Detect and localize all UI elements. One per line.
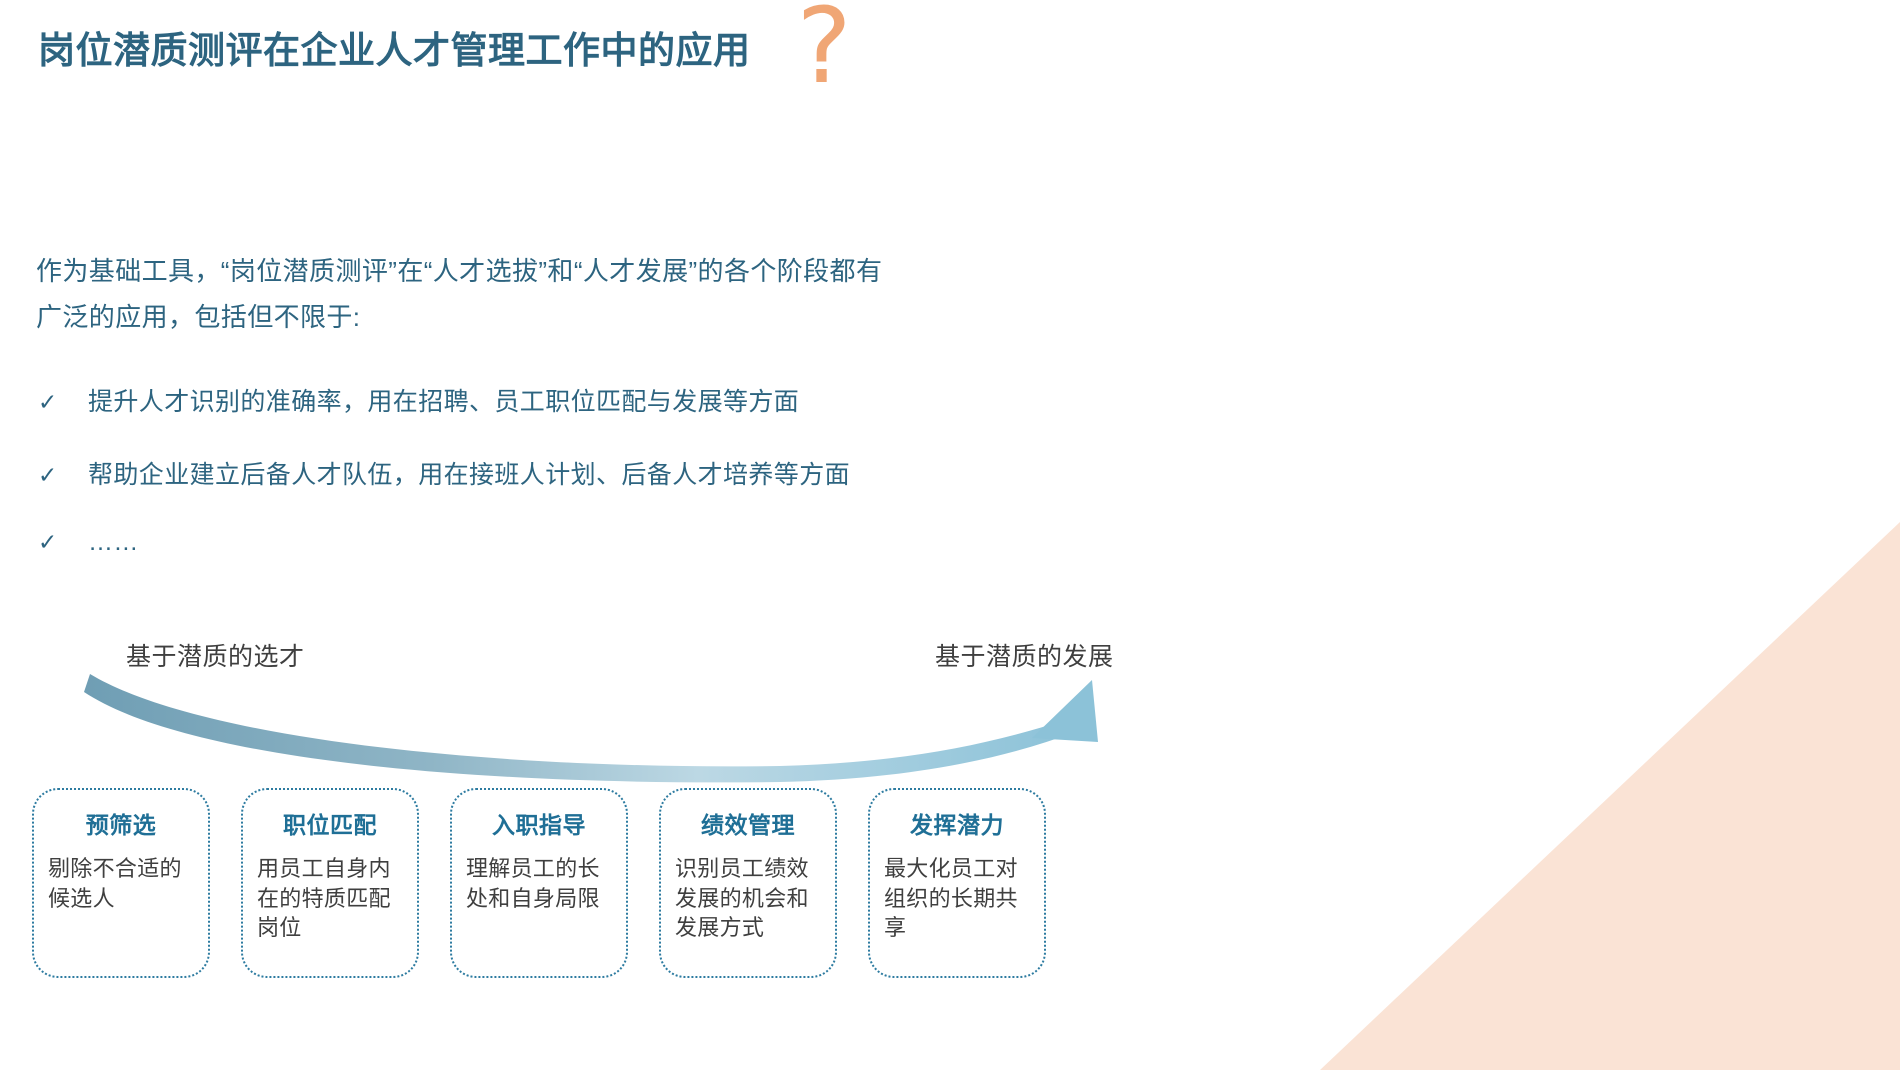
check-icon: ✓ [38, 390, 88, 416]
list-item: ✓ 帮助企业建立后备人才队伍，用在接班人计划、后备人才培养等方面 [38, 455, 1238, 491]
card-body: 最大化员工对组织的长期共享 [884, 854, 1018, 943]
bullet-list: ✓ 提升人才识别的准确率，用在招聘、员工职位匹配与发展等方面 ✓ 帮助企业建立后… [38, 382, 1238, 594]
check-icon: ✓ [38, 463, 88, 489]
list-item-label: 提升人才识别的准确率，用在招聘、员工职位匹配与发展等方面 [88, 382, 799, 418]
card-pre-screening[interactable]: 预筛选 剔除不合适的候选人 [32, 788, 210, 978]
intro-line-2: 广泛的应用，包括但不限于: [36, 294, 1216, 340]
card-unleash-potential[interactable]: 发挥潜力 最大化员工对组织的长期共享 [868, 788, 1046, 978]
card-title: 入职指导 [492, 806, 586, 840]
list-item-label: …… [88, 528, 139, 557]
card-job-matching[interactable]: 职位匹配 用员工自身内在的特质匹配岗位 [241, 788, 419, 978]
slide-canvas: 岗位潜质测评在企业人才管理工作中的应用 ? 作为基础工具，“岗位潜质测评”在“人… [0, 0, 1900, 1070]
arrow-label-left: 基于潜质的选才 [126, 637, 305, 673]
check-icon: ✓ [38, 530, 88, 556]
intro-paragraph: 作为基础工具，“岗位潜质测评”在“人才选拔”和“人才发展”的各个阶段都有 广泛的… [36, 248, 1216, 341]
card-body: 剔除不合适的候选人 [48, 854, 182, 913]
decorative-corner-triangle [1320, 522, 1900, 1070]
card-body: 识别员工绩效发展的机会和发展方式 [675, 854, 809, 943]
curved-arrow-icon [80, 670, 1210, 800]
list-item: ✓ …… [38, 528, 1238, 557]
card-performance-management[interactable]: 绩效管理 识别员工绩效发展的机会和发展方式 [659, 788, 837, 978]
question-mark-icon: ? [797, 2, 852, 90]
card-title: 绩效管理 [701, 806, 795, 840]
card-title: 发挥潜力 [910, 806, 1004, 840]
list-item-label: 帮助企业建立后备人才队伍，用在接班人计划、后备人才培养等方面 [88, 455, 850, 491]
arrow-label-right: 基于潜质的发展 [935, 637, 1114, 673]
list-item: ✓ 提升人才识别的准确率，用在招聘、员工职位匹配与发展等方面 [38, 382, 1238, 418]
intro-line-1: 作为基础工具，“岗位潜质测评”在“人才选拔”和“人才发展”的各个阶段都有 [36, 248, 1216, 294]
card-title: 职位匹配 [283, 806, 377, 840]
card-body: 理解员工的长处和自身局限 [466, 854, 600, 913]
card-title: 预筛选 [86, 806, 157, 840]
card-onboarding-guidance[interactable]: 入职指导 理解员工的长处和自身局限 [450, 788, 628, 978]
page-title: 岗位潜质测评在企业人才管理工作中的应用 [38, 28, 751, 74]
title-row: 岗位潜质测评在企业人才管理工作中的应用 ? [38, 12, 852, 90]
card-row: 预筛选 剔除不合适的候选人 职位匹配 用员工自身内在的特质匹配岗位 入职指导 理… [32, 788, 1046, 978]
card-body: 用员工自身内在的特质匹配岗位 [257, 854, 391, 943]
